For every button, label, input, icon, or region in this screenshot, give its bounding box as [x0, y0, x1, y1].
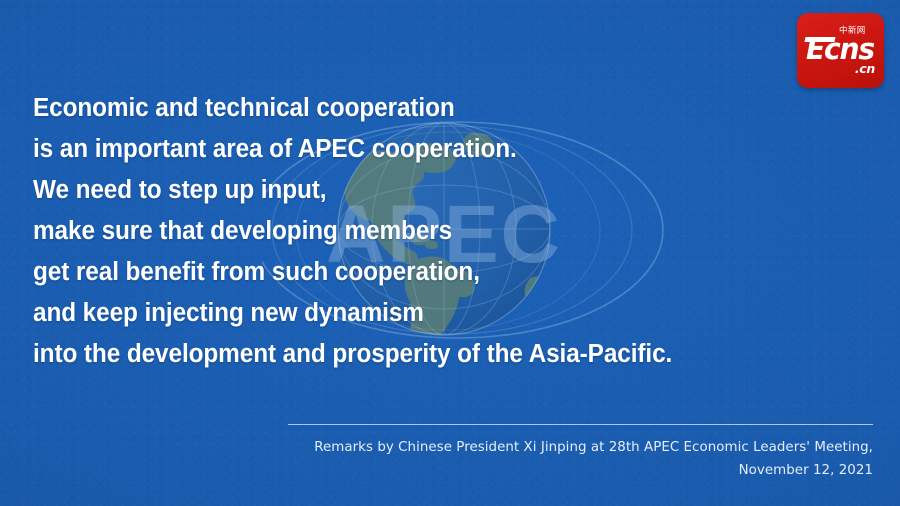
attribution-text: Remarks by Chinese President Xi Jinping …: [288, 436, 873, 482]
quote-block: Economic and technical cooperation is an…: [33, 88, 853, 375]
quote-line: into the development and prosperity of t…: [33, 334, 816, 375]
quote-line: make sure that developing members: [33, 211, 816, 252]
quote-line: is an important area of APEC cooperation…: [33, 129, 816, 170]
quote-line: We need to step up input,: [33, 170, 816, 211]
quote-line: Economic and technical cooperation: [33, 88, 816, 129]
attribution-line-2: November 12, 2021: [288, 459, 873, 482]
attribution-divider: [288, 424, 873, 425]
ecns-logo[interactable]: 中新网 Ecns .cn: [797, 13, 884, 88]
logo-tld: .cn: [855, 63, 875, 76]
quote-line: get real benefit from such cooperation,: [33, 252, 816, 293]
logo-wordmark: Ecns: [806, 35, 874, 64]
attribution-block: Remarks by Chinese President Xi Jinping …: [288, 424, 873, 482]
quote-line: and keep injecting new dynamism: [33, 293, 816, 334]
attribution-line-1: Remarks by Chinese President Xi Jinping …: [288, 436, 873, 459]
quote-card: APEC Economic and technical cooperation …: [0, 0, 900, 506]
ecns-logo-inner: 中新网 Ecns .cn: [797, 13, 884, 88]
